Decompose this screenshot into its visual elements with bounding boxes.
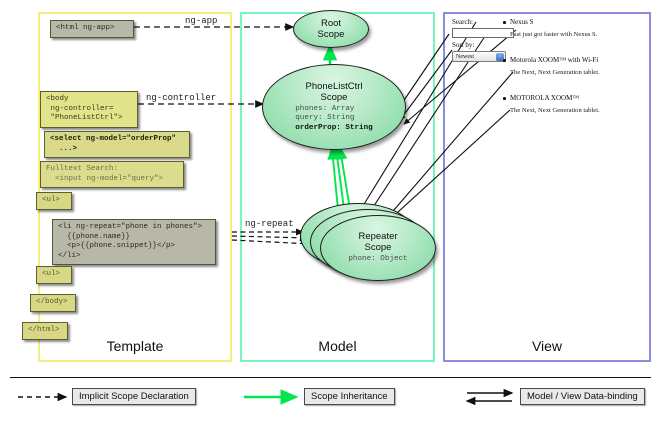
scope-root-title-line2: Scope	[318, 29, 345, 40]
sort-label: Sort by:	[452, 41, 474, 49]
phone-name: Nexus S	[510, 18, 642, 26]
code-box-li-repeat: <li ng-repeat="phone in phones"> {{phone…	[52, 219, 216, 265]
code-box-html-close: </html>	[22, 322, 68, 340]
scope-repeater-title-line2: Scope	[365, 242, 392, 253]
code-box-html-tag: <html ng-app>	[50, 20, 134, 38]
panel-label-view: View	[443, 338, 651, 354]
scope-phonelistctrl-title-line1: PhoneListCtrl	[305, 81, 362, 92]
scope-phonelistctrl-title-line2: Scope	[321, 92, 348, 103]
scope-prop-phone: phone: Object	[348, 255, 407, 264]
phone-name: MOTOROLA XOOM™	[510, 94, 642, 102]
sort-select-value: Newest	[456, 54, 474, 60]
edge-label-ng-repeat: ng-repeat	[245, 219, 294, 229]
list-item: Motorola XOOM™ with Wi-Fi The Next, Next…	[510, 56, 642, 76]
edge-label-ng-app: ng-app	[185, 16, 217, 26]
legend-glyph-model-view-data-binding	[467, 393, 512, 401]
code-box-ul-close: <ul>	[36, 266, 72, 284]
scope-phonelistctrl: PhoneListCtrl Scope phones: Array query:…	[262, 64, 406, 150]
search-input[interactable]	[452, 28, 514, 38]
panel-label-template: Template	[38, 338, 232, 354]
bullet-icon	[503, 21, 506, 24]
list-item: Nexus S Fast just got faster with Nexus …	[510, 18, 642, 38]
diagram-canvas: Template Model View	[0, 0, 661, 425]
phone-snippet: The Next, Next Generation tablet.	[510, 107, 642, 114]
view-content: Search: Sort by: Newest ↕ Nexus S Fast j…	[452, 18, 644, 128]
legend-item-model-view-data-binding: Model / View Data-binding	[520, 388, 645, 405]
bullet-icon	[503, 97, 506, 100]
scope-prop-phones: phones: Array	[295, 105, 372, 114]
phone-snippet: The Next, Next Generation tablet.	[510, 69, 642, 76]
scope-repeater: Repeater Scope phone: Object	[320, 215, 436, 281]
code-box-ul-open: <ul>	[36, 192, 72, 210]
sort-select[interactable]: Newest ↕	[452, 51, 506, 62]
code-box-body-close: </body>	[30, 294, 76, 312]
code-box-body-tag: <body ng-controller= "PhoneListCtrl">	[40, 91, 138, 128]
panel-label-model: Model	[240, 338, 435, 354]
legend-item-scope-inheritance: Scope Inheritance	[304, 388, 395, 405]
phone-name: Motorola XOOM™ with Wi-Fi	[510, 56, 642, 64]
scope-root-title-line1: Root	[321, 18, 341, 29]
scope-prop-orderprop: orderProp: String	[295, 124, 372, 132]
legend-divider	[10, 377, 651, 378]
code-box-select-tag: <select ng-model="orderProp" ...>	[44, 131, 190, 158]
scope-root: Root Scope	[293, 10, 369, 48]
legend-item-implicit-scope-declaration: Implicit Scope Declaration	[72, 388, 196, 405]
bullet-icon	[503, 59, 506, 62]
search-label: Search:	[452, 18, 473, 26]
list-item: MOTOROLA XOOM™ The Next, Next Generation…	[510, 94, 642, 114]
edge-label-ng-controller: ng-controller	[146, 93, 216, 103]
scope-prop-query: query: String	[295, 114, 372, 123]
phone-snippet: Fast just got faster with Nexus S.	[510, 31, 642, 38]
scope-repeater-title-line1: Repeater	[358, 231, 397, 242]
code-box-search-tag: Fulltext Search: <input ng-model="query"…	[40, 161, 184, 188]
